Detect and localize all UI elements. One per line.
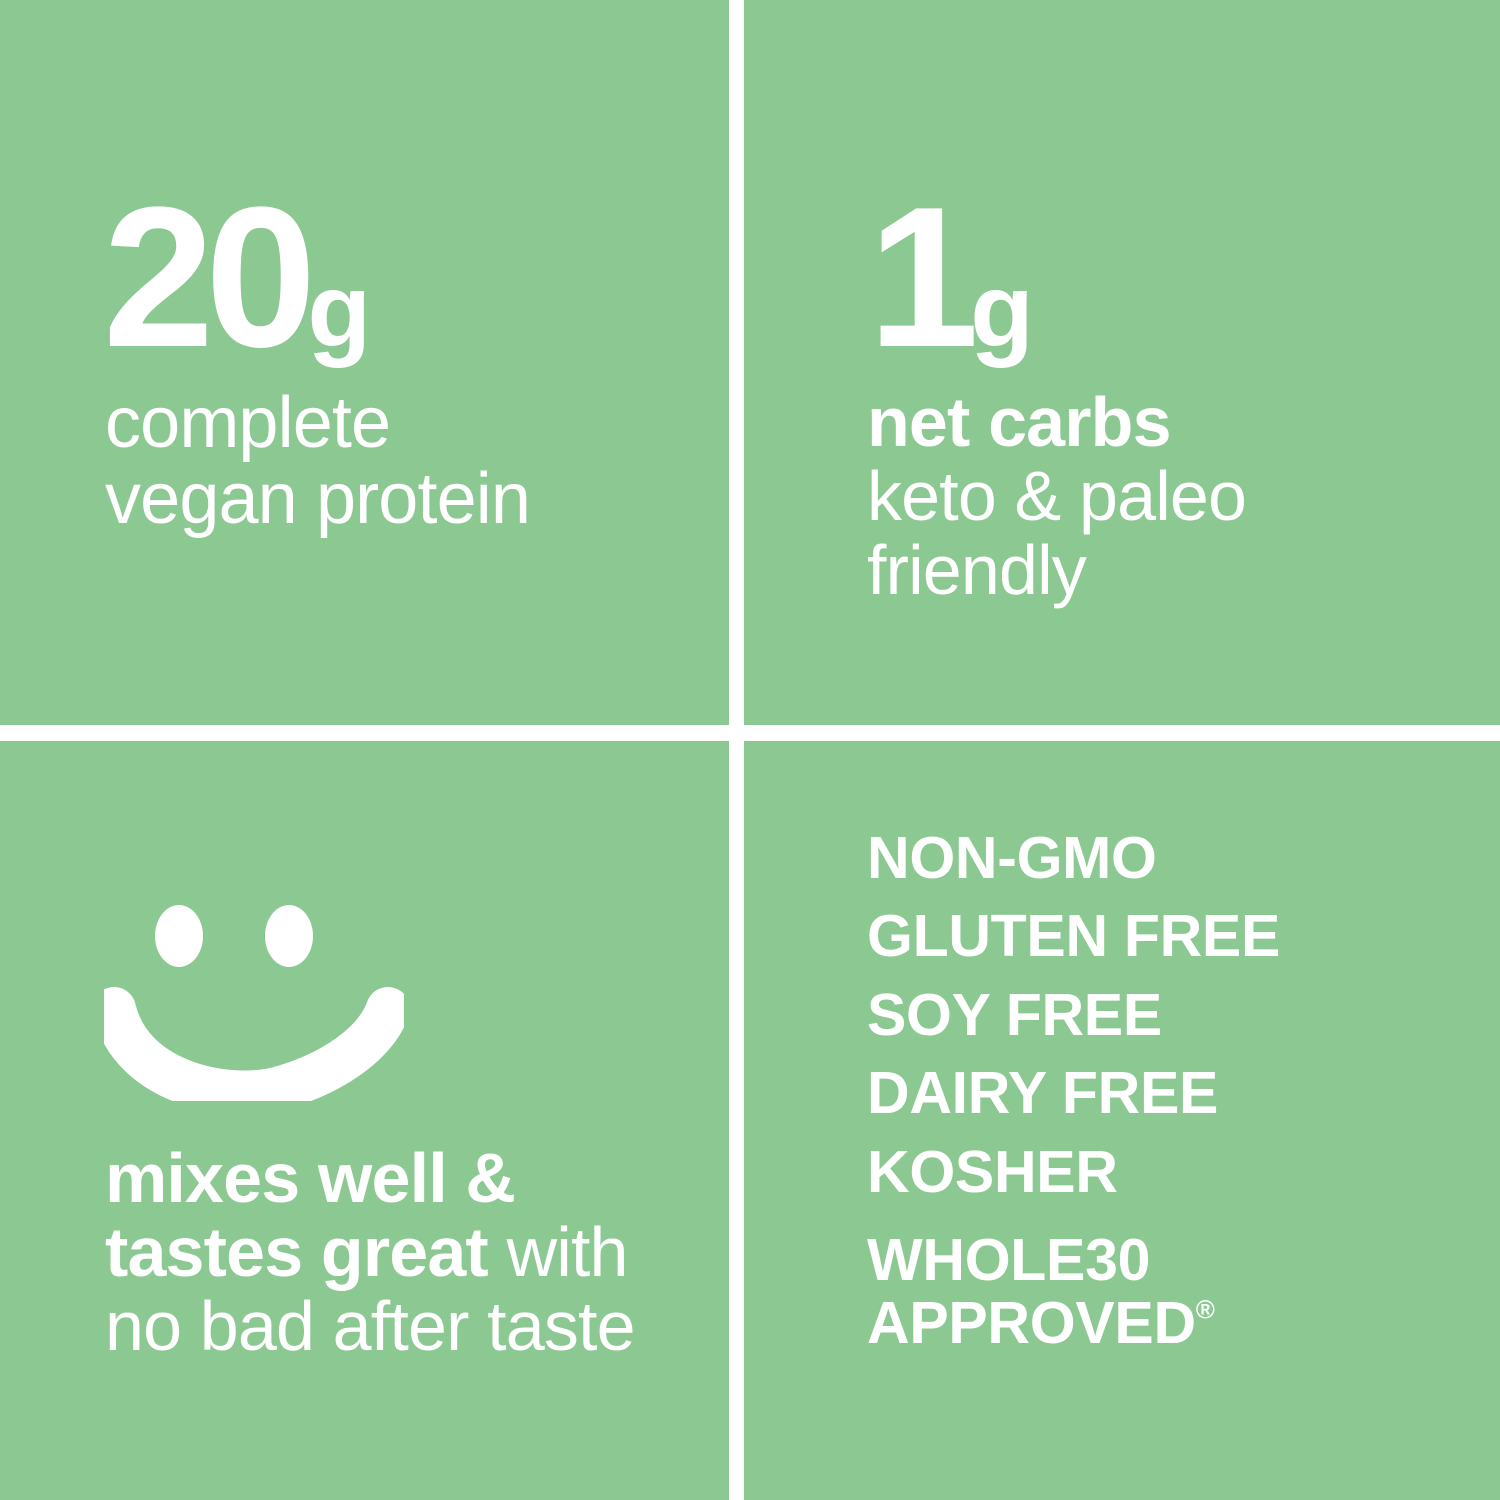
panel-taste: mixes well & tastes great with no bad af… (0, 741, 729, 1500)
protein-stat-number: 20 (103, 166, 307, 389)
net-carbs-stat-number: 1 (868, 166, 970, 389)
certification-item-dairy-free: DAIRY FREE (867, 1054, 1280, 1132)
protein-description-line-1: complete (105, 385, 530, 461)
protein-stat: 20g (103, 178, 369, 378)
smiley-face-icon (104, 891, 404, 1101)
taste-description-line-1: mixes well & (105, 1141, 635, 1215)
certification-item-soy-free: SOY FREE (867, 976, 1280, 1054)
registered-trademark-icon: ® (1196, 1294, 1215, 1324)
taste-description: mixes well & tastes great with no bad af… (105, 1141, 635, 1364)
product-benefits-infographic: 20g complete vegan protein 1g net carbs … (0, 0, 1500, 1500)
panel-protein: 20g complete vegan protein (0, 0, 729, 725)
certification-item-gluten-free: GLUTEN FREE (867, 897, 1280, 975)
panel-net-carbs: 1g net carbs keto & paleo friendly (744, 0, 1500, 725)
whole30-line-2: APPROVED® (867, 1292, 1280, 1355)
panel-certifications: NON-GMO GLUTEN FREE SOY FREE DAIRY FREE … (744, 741, 1500, 1500)
taste-description-line-2: tastes great with (105, 1215, 635, 1289)
protein-description-line-2: vegan protein (105, 461, 530, 537)
net-carbs-description-line-3: friendly (867, 533, 1246, 607)
taste-description-line-3: no bad after taste (105, 1289, 635, 1363)
net-carbs-description-line-2: keto & paleo (867, 459, 1246, 533)
certification-item-non-gmo: NON-GMO (867, 819, 1280, 897)
certification-item-whole30-approved: WHOLE30 APPROVED® (867, 1229, 1280, 1354)
protein-stat-unit: g (307, 253, 368, 369)
protein-description: complete vegan protein (105, 385, 530, 538)
net-carbs-description: net carbs keto & paleo friendly (867, 385, 1246, 608)
net-carbs-stat: 1g (868, 178, 1032, 378)
whole30-line-1: WHOLE30 (867, 1229, 1280, 1292)
certification-list: NON-GMO GLUTEN FREE SOY FREE DAIRY FREE … (867, 819, 1280, 1354)
net-carbs-stat-unit: g (970, 253, 1031, 369)
net-carbs-description-line-1: net carbs (867, 385, 1246, 459)
certification-item-kosher: KOSHER (867, 1133, 1280, 1211)
